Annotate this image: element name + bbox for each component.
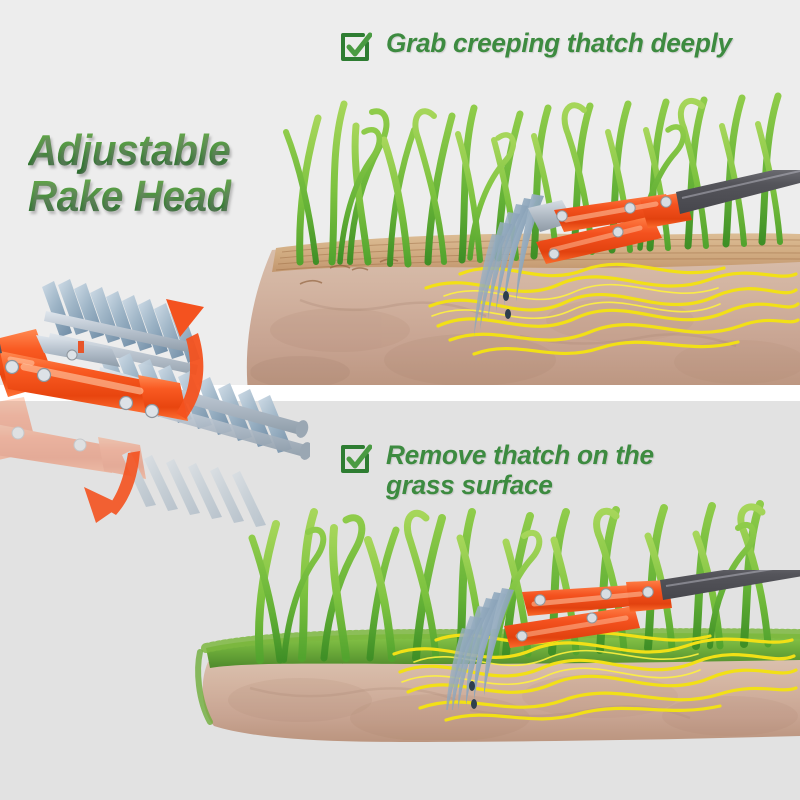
feature-caption-top: Grab creeping thatch deeply xyxy=(338,28,743,64)
caption-bottom-line-2: grass surface xyxy=(386,470,654,500)
rake-shaft-bottom xyxy=(660,570,800,600)
adjust-pin xyxy=(78,341,84,353)
feature-caption-top-text: Grab creeping thatch deeply xyxy=(386,28,732,58)
checkbox-checked-icon xyxy=(338,442,372,476)
page-title-line-1: Adjustable xyxy=(28,128,231,174)
feature-caption-bottom-text: Remove thatch on the grass surface xyxy=(386,440,654,500)
checkbox-checked-icon xyxy=(338,30,372,64)
infographic-stage: Adjustable Rake Head Grab creeping thatc… xyxy=(0,0,800,800)
rake-tines-bottom xyxy=(446,588,514,710)
adjustable-rake-head-closeup xyxy=(0,255,310,530)
rake-tool-bottom xyxy=(430,570,800,710)
feature-caption-bottom: Remove thatch on the grass surface xyxy=(338,440,662,500)
rake-shaft-top xyxy=(676,170,800,214)
caption-top-line-1: Grab creeping thatch deeply xyxy=(386,28,732,58)
caption-bottom-line-1: Remove thatch on the xyxy=(386,440,654,470)
rake-tool-top xyxy=(470,170,800,350)
page-title-line-2: Rake Head xyxy=(28,174,231,220)
page-title: Adjustable Rake Head xyxy=(28,128,231,220)
